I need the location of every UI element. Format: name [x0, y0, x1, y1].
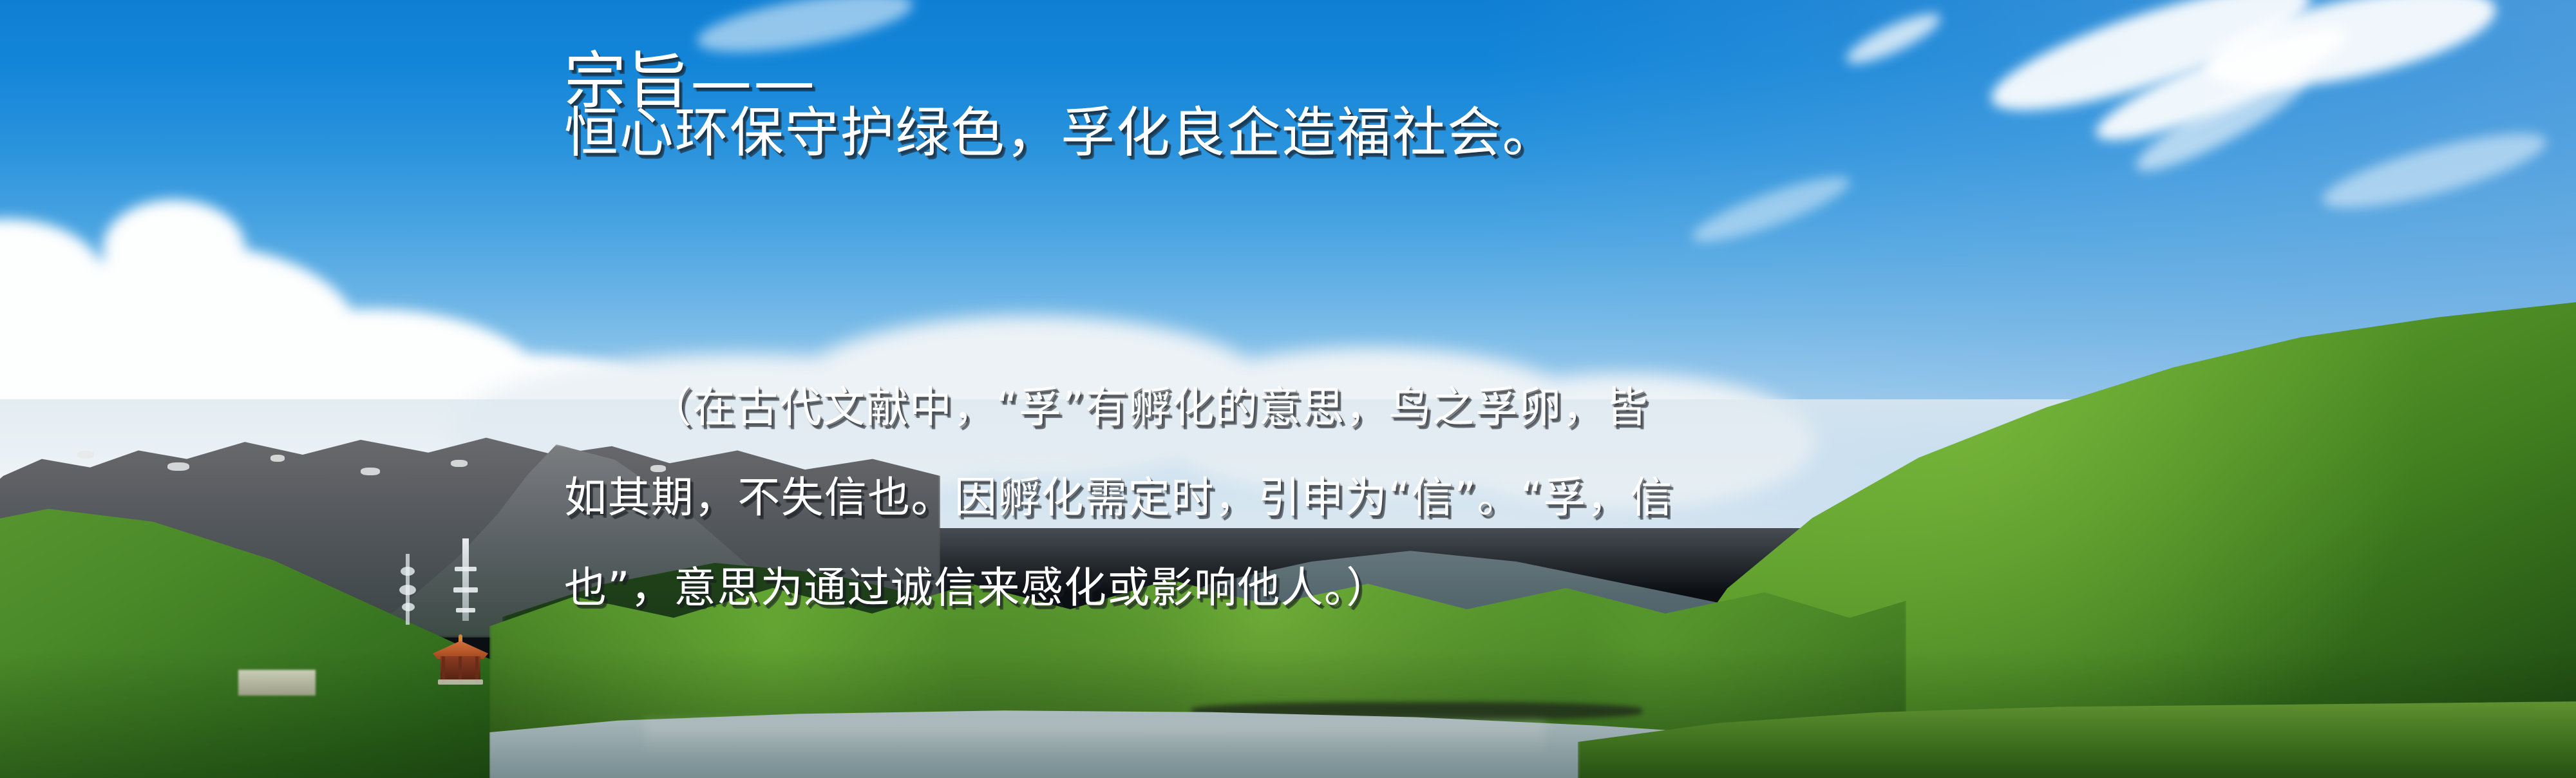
banner-note-line: （在古代文献中，“孚”有孵化的意思，鸟之孚卵，皆	[564, 386, 1673, 429]
banner-note-line: 如其期，不失信也。因孵化需定时，引申为“信”。“孚，信	[564, 477, 1673, 519]
hero-banner: 宗旨—— 恒心环保守护绿色，孚化良企造福社会。 （在古代文献中，“孚”有孵化的意…	[0, 0, 2576, 778]
banner-note: （在古代文献中，“孚”有孵化的意思，鸟之孚卵，皆 如其期，不失信也。因孵化需定时…	[564, 386, 1673, 657]
banner-tagline: 恒心环保守护绿色，孚化良企造福社会。	[564, 106, 1557, 160]
banner-text-layer: 宗旨—— 恒心环保守护绿色，孚化良企造福社会。 （在古代文献中，“孚”有孵化的意…	[0, 0, 2576, 778]
banner-note-line: 也”，意思为通过诚信来感化或影响他人。）	[564, 567, 1673, 609]
